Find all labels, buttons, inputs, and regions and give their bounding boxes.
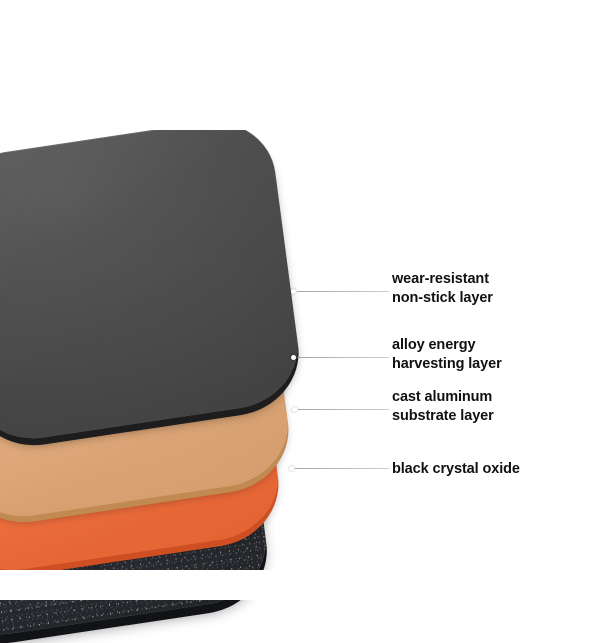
callout-label-line: non-stick layer [392,289,493,308]
callout-label-line: cast aluminum [392,388,494,407]
callout-label-line: black crystal oxide [392,460,520,479]
callout-label-line: wear-resistant [392,270,493,289]
callout-dot-icon [291,355,296,360]
callout-dot-icon [289,466,294,471]
callout-leader-line [298,409,389,410]
callout-label-wear-resistant-non-stick: wear-resistant non-stick layer [392,270,493,308]
callout-leader-line [295,468,389,469]
callout-label-alloy-energy-harvesting: alloy energy harvesting layer [392,336,502,374]
diagram-canvas: Efficient Protective Layer wear-resistan… [0,0,600,600]
callout-label-line: alloy energy [392,336,502,355]
callout-leader-line [297,357,389,358]
callout-group: wear-resistant non-stick layer alloy ene… [0,0,600,600]
callout-dot-icon [291,289,296,294]
callout-label-line: substrate layer [392,407,494,426]
callout-label-line: harvesting layer [392,355,502,374]
callout-leader-line [297,291,389,292]
callout-label-black-crystal-oxide: black crystal oxide [392,460,520,479]
callout-label-cast-aluminum-substrate: cast aluminum substrate layer [392,388,494,426]
callout-dot-icon [292,407,297,412]
